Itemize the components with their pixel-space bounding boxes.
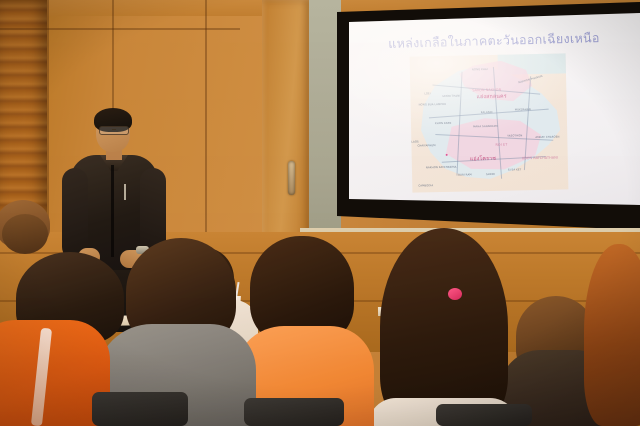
presenter-shirt-placket xyxy=(111,165,114,257)
glasses-icon xyxy=(99,126,129,135)
hair-tie-icon xyxy=(448,288,462,300)
presenter-left-arm xyxy=(62,168,88,260)
glasses-bridge-icon xyxy=(112,129,116,130)
chair[interactable] xyxy=(436,404,532,426)
door-handle-icon[interactable] xyxy=(288,161,295,195)
wall-seam-horizontal xyxy=(0,28,240,30)
pen-icon xyxy=(124,184,126,200)
chair[interactable] xyxy=(244,398,344,426)
projection-screen-surface: แหล่งเกลือในภาคตะวันออกเฉียงเหนือ NONG K… xyxy=(349,13,640,214)
audience-front-left-head xyxy=(2,214,48,254)
audience-red-hair xyxy=(584,244,640,426)
audience-long-hair-head xyxy=(380,228,508,426)
chair[interactable] xyxy=(92,392,188,426)
screen-glare xyxy=(349,13,640,214)
lecture-room-photo: แหล่งเกลือในภาคตะวันออกเฉียงเหนือ NONG K… xyxy=(0,0,640,426)
